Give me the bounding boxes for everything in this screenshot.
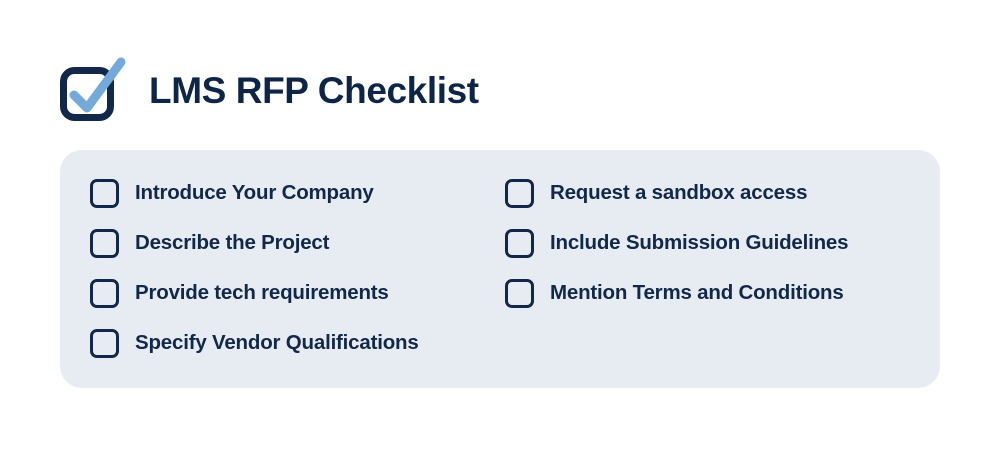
checklist-column-left: Introduce Your Company Describe the Proj… xyxy=(60,150,505,388)
checklist-panel: Introduce Your Company Describe the Proj… xyxy=(60,150,940,388)
checkbox-icon[interactable] xyxy=(90,179,119,208)
checklist-column-right: Request a sandbox access Include Submiss… xyxy=(505,150,940,388)
checklist-item[interactable]: Mention Terms and Conditions xyxy=(505,268,940,318)
checked-checkbox-icon xyxy=(58,57,124,123)
checklist-item[interactable]: Describe the Project xyxy=(90,218,505,268)
checklist-item-label: Introduce Your Company xyxy=(135,183,374,204)
checklist-item[interactable]: Include Submission Guidelines xyxy=(505,218,940,268)
checkbox-icon[interactable] xyxy=(90,279,119,308)
checklist-item-label: Include Submission Guidelines xyxy=(550,233,848,254)
checklist-item-label: Provide tech requirements xyxy=(135,283,389,304)
checklist-columns: Introduce Your Company Describe the Proj… xyxy=(60,150,940,388)
checkbox-icon[interactable] xyxy=(505,229,534,258)
checkbox-icon[interactable] xyxy=(505,179,534,208)
checklist-item-label: Request a sandbox access xyxy=(550,183,807,204)
checklist-item-label: Specify Vendor Qualifications xyxy=(135,333,419,354)
checklist-page: LMS RFP Checklist Introduce Your Company… xyxy=(0,0,1000,450)
checklist-item-label: Describe the Project xyxy=(135,233,329,254)
page-header: LMS RFP Checklist xyxy=(58,55,479,125)
checklist-item[interactable]: Provide tech requirements xyxy=(90,268,505,318)
checkbox-icon[interactable] xyxy=(90,329,119,358)
checkbox-icon[interactable] xyxy=(90,229,119,258)
checklist-item[interactable]: Introduce Your Company xyxy=(90,168,505,218)
checklist-item-label: Mention Terms and Conditions xyxy=(550,283,844,304)
checklist-item[interactable]: Specify Vendor Qualifications xyxy=(90,318,505,368)
checkbox-icon[interactable] xyxy=(505,279,534,308)
page-title: LMS RFP Checklist xyxy=(149,72,479,109)
checklist-item[interactable]: Request a sandbox access xyxy=(505,168,940,218)
